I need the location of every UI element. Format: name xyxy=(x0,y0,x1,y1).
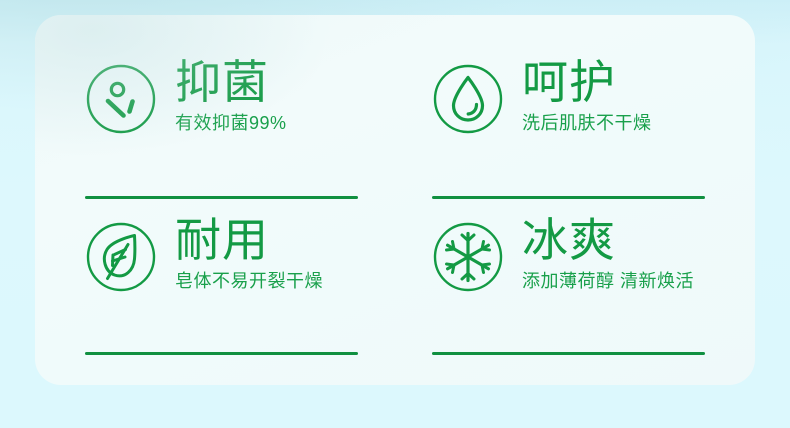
germ-circle-icon xyxy=(85,63,157,135)
feature-text-group: 耐用 皂体不易开裂干燥 xyxy=(175,217,380,292)
feature-item-care: 呵护 洗后肌肤不干燥 xyxy=(410,43,727,201)
feature-subtitle: 皂体不易开裂干燥 xyxy=(175,271,380,293)
page-root: 抑菌 有效抑菌99% 呵护 洗后肌肤不干燥 xyxy=(0,0,790,428)
feature-title: 抑菌 xyxy=(175,59,380,107)
snowflake-circle-icon xyxy=(432,221,504,293)
feature-grid: 抑菌 有效抑菌99% 呵护 洗后肌肤不干燥 xyxy=(35,15,755,385)
feature-card: 抑菌 有效抑菌99% 呵护 洗后肌肤不干燥 xyxy=(35,15,755,385)
feature-text-group: 冰爽 添加薄荷醇 清新焕活 xyxy=(522,217,727,292)
feature-subtitle: 洗后肌肤不干燥 xyxy=(522,113,727,135)
leaf-circle-icon xyxy=(85,221,157,293)
feature-title: 呵护 xyxy=(522,59,727,107)
feature-divider xyxy=(85,352,358,355)
feature-divider xyxy=(432,196,705,199)
feature-title: 耐用 xyxy=(175,217,380,265)
feature-item-durable: 耐用 皂体不易开裂干燥 xyxy=(63,201,380,359)
feature-title: 冰爽 xyxy=(522,217,727,265)
feature-subtitle: 有效抑菌99% xyxy=(175,113,380,135)
feature-text-group: 抑菌 有效抑菌99% xyxy=(175,59,380,134)
feature-item-cooling: 冰爽 添加薄荷醇 清新焕活 xyxy=(410,201,727,359)
feature-item-antibacterial: 抑菌 有效抑菌99% xyxy=(63,43,380,201)
water-droplet-circle-icon xyxy=(432,63,504,135)
feature-divider xyxy=(85,196,358,199)
feature-text-group: 呵护 洗后肌肤不干燥 xyxy=(522,59,727,134)
feature-subtitle: 添加薄荷醇 清新焕活 xyxy=(522,271,727,293)
feature-divider xyxy=(432,352,705,355)
